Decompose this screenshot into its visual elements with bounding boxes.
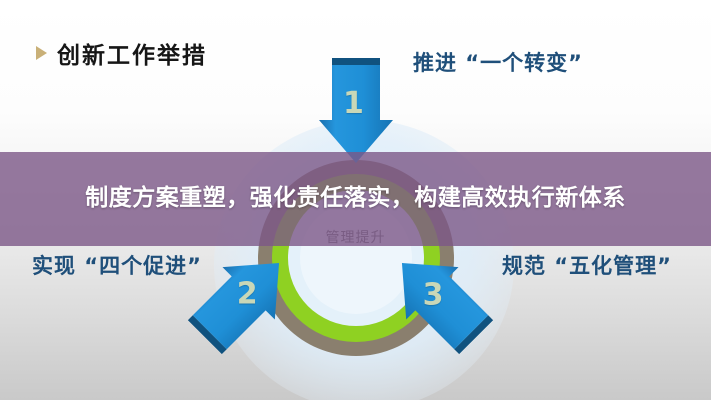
page-title: 创新工作举措 [36,36,207,70]
caption-band-text: 制度方案重塑，强化责任落实，构建高效执行新体系 [85,183,626,215]
slide-canvas: 1 2 [0,0,711,400]
arrow-step-2-number: 2 [237,277,258,312]
diagram-label-bottom-right: 规范 “五化管理” [502,250,672,280]
diagram-label-bottom-left: 实现 “四个促进” [32,250,202,280]
arrow-step-1-number: 1 [343,86,364,121]
caption-band: 制度方案重塑，强化责任落实，构建高效执行新体系 [0,152,711,246]
arrow-step-1: 1 [318,58,394,166]
diagram-label-top-right: 推进 “一个转变” [413,47,583,77]
arrow-step-3-number: 3 [423,277,444,312]
page-title-text: 创新工作举措 [57,36,207,70]
triangle-right-icon [36,46,47,60]
